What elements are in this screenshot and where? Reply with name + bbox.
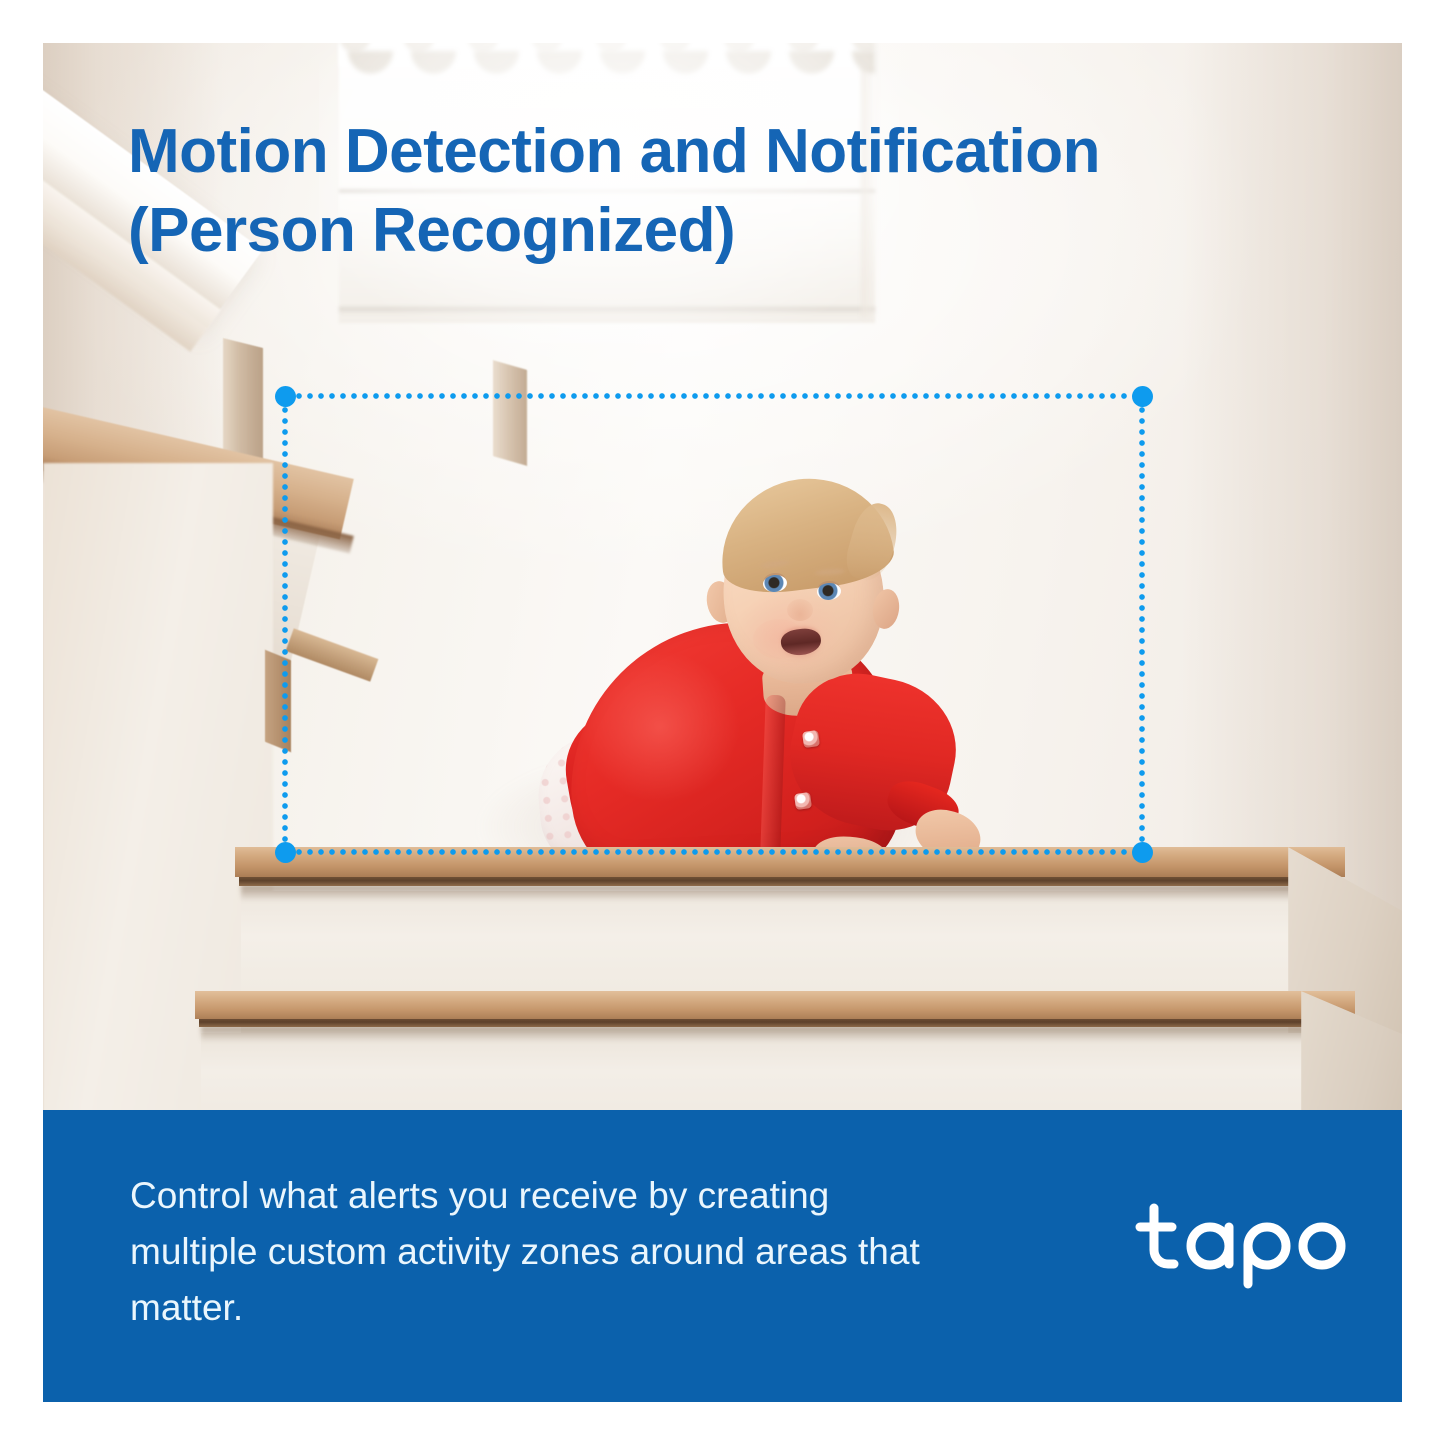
zone-edge-left — [282, 396, 288, 852]
page-title: Motion Detection and Notification (Perso… — [128, 112, 1208, 271]
zone-edge-top — [285, 393, 1142, 399]
tapo-logo — [1134, 1194, 1346, 1290]
zone-handle-top-right[interactable] — [1132, 386, 1153, 407]
zone-edge-bottom — [285, 849, 1142, 855]
stair-step-2-riser — [201, 1033, 1361, 1110]
zone-handle-bottom-left[interactable] — [275, 842, 296, 863]
promo-card: Motion Detection and Notification (Perso… — [0, 0, 1445, 1445]
zone-edge-right — [1139, 396, 1145, 852]
stair-step-1-shadow — [241, 885, 1339, 901]
description-text: Control what alerts you receive by creat… — [130, 1168, 1060, 1337]
detection-zone[interactable] — [285, 396, 1142, 852]
stair-step-2-nosing — [195, 991, 1355, 1019]
description-banner: Control what alerts you receive by creat… — [43, 1110, 1402, 1402]
zone-handle-bottom-right[interactable] — [1132, 842, 1153, 863]
stair-step-2-shadow — [201, 1026, 1351, 1042]
zone-handle-top-left[interactable] — [275, 386, 296, 407]
